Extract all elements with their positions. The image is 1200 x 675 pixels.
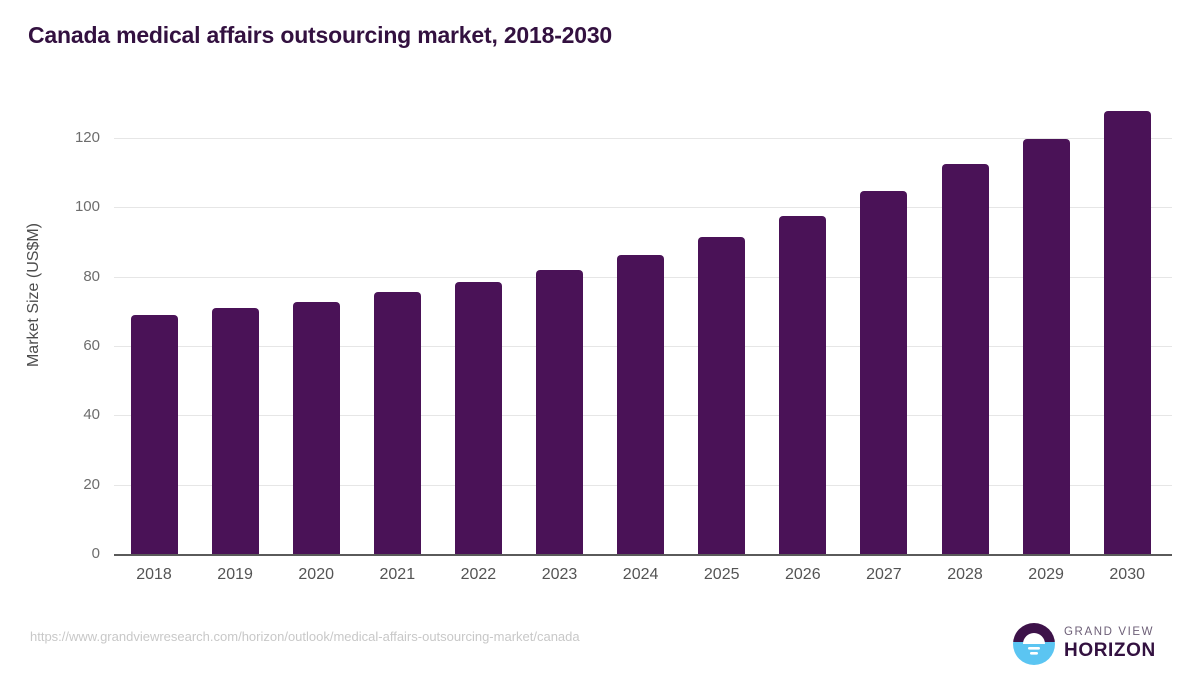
y-axis-tick-label: 0 [40, 546, 100, 561]
horizon-logo-mark-icon [1012, 622, 1056, 666]
bar-2018[interactable] [131, 315, 178, 554]
x-axis-line [114, 554, 1172, 556]
x-axis-tick-label: 2023 [520, 566, 600, 584]
bar-2029[interactable] [1023, 139, 1070, 554]
bar-2022[interactable] [455, 282, 502, 554]
x-axis-tick-label: 2030 [1087, 566, 1167, 584]
logo-text: GRAND VIEW HORIZON [1064, 625, 1172, 661]
x-axis-tick-label: 2029 [1006, 566, 1086, 584]
plot-area [114, 110, 1172, 554]
logo-text-grand-view: GRAND VIEW [1064, 625, 1172, 641]
y-axis-tick-label: 80 [40, 269, 100, 284]
bar-2030[interactable] [1104, 111, 1151, 554]
x-axis-tick-label: 2020 [276, 566, 356, 584]
x-axis-tick-label: 2025 [682, 566, 762, 584]
chart-page: Canada medical affairs outsourcing marke… [0, 0, 1200, 675]
x-axis-tick-label: 2021 [357, 566, 437, 584]
x-axis-tick-label: 2019 [195, 566, 275, 584]
y-axis-tick-label: 100 [40, 199, 100, 214]
grand-view-horizon-logo[interactable]: GRAND VIEW HORIZON [1012, 620, 1172, 668]
y-axis-tick-label: 20 [40, 477, 100, 492]
gridline [114, 207, 1172, 208]
logo-text-horizon: HORIZON [1064, 641, 1172, 662]
bar-2023[interactable] [536, 270, 583, 554]
page-title: Canada medical affairs outsourcing marke… [28, 22, 612, 49]
bar-2024[interactable] [617, 255, 664, 554]
x-axis-tick-label: 2026 [763, 566, 843, 584]
bar-2021[interactable] [374, 292, 421, 554]
x-axis-tick-label: 2027 [844, 566, 924, 584]
y-axis-tick-label: 120 [40, 130, 100, 145]
x-axis-tick-label: 2022 [438, 566, 518, 584]
x-axis-tick-label: 2024 [601, 566, 681, 584]
bar-2027[interactable] [860, 191, 907, 554]
source-url[interactable]: https://www.grandviewresearch.com/horizo… [30, 629, 580, 644]
bar-2020[interactable] [293, 302, 340, 554]
bar-2028[interactable] [942, 164, 989, 554]
bar-2019[interactable] [212, 308, 259, 554]
bar-2025[interactable] [698, 237, 745, 554]
x-axis-tick-label: 2028 [925, 566, 1005, 584]
bar-2026[interactable] [779, 216, 826, 554]
y-axis-tick-label: 60 [40, 338, 100, 353]
x-axis-tick-label: 2018 [114, 566, 194, 584]
y-axis-tick-label: 40 [40, 407, 100, 422]
gridline [114, 138, 1172, 139]
